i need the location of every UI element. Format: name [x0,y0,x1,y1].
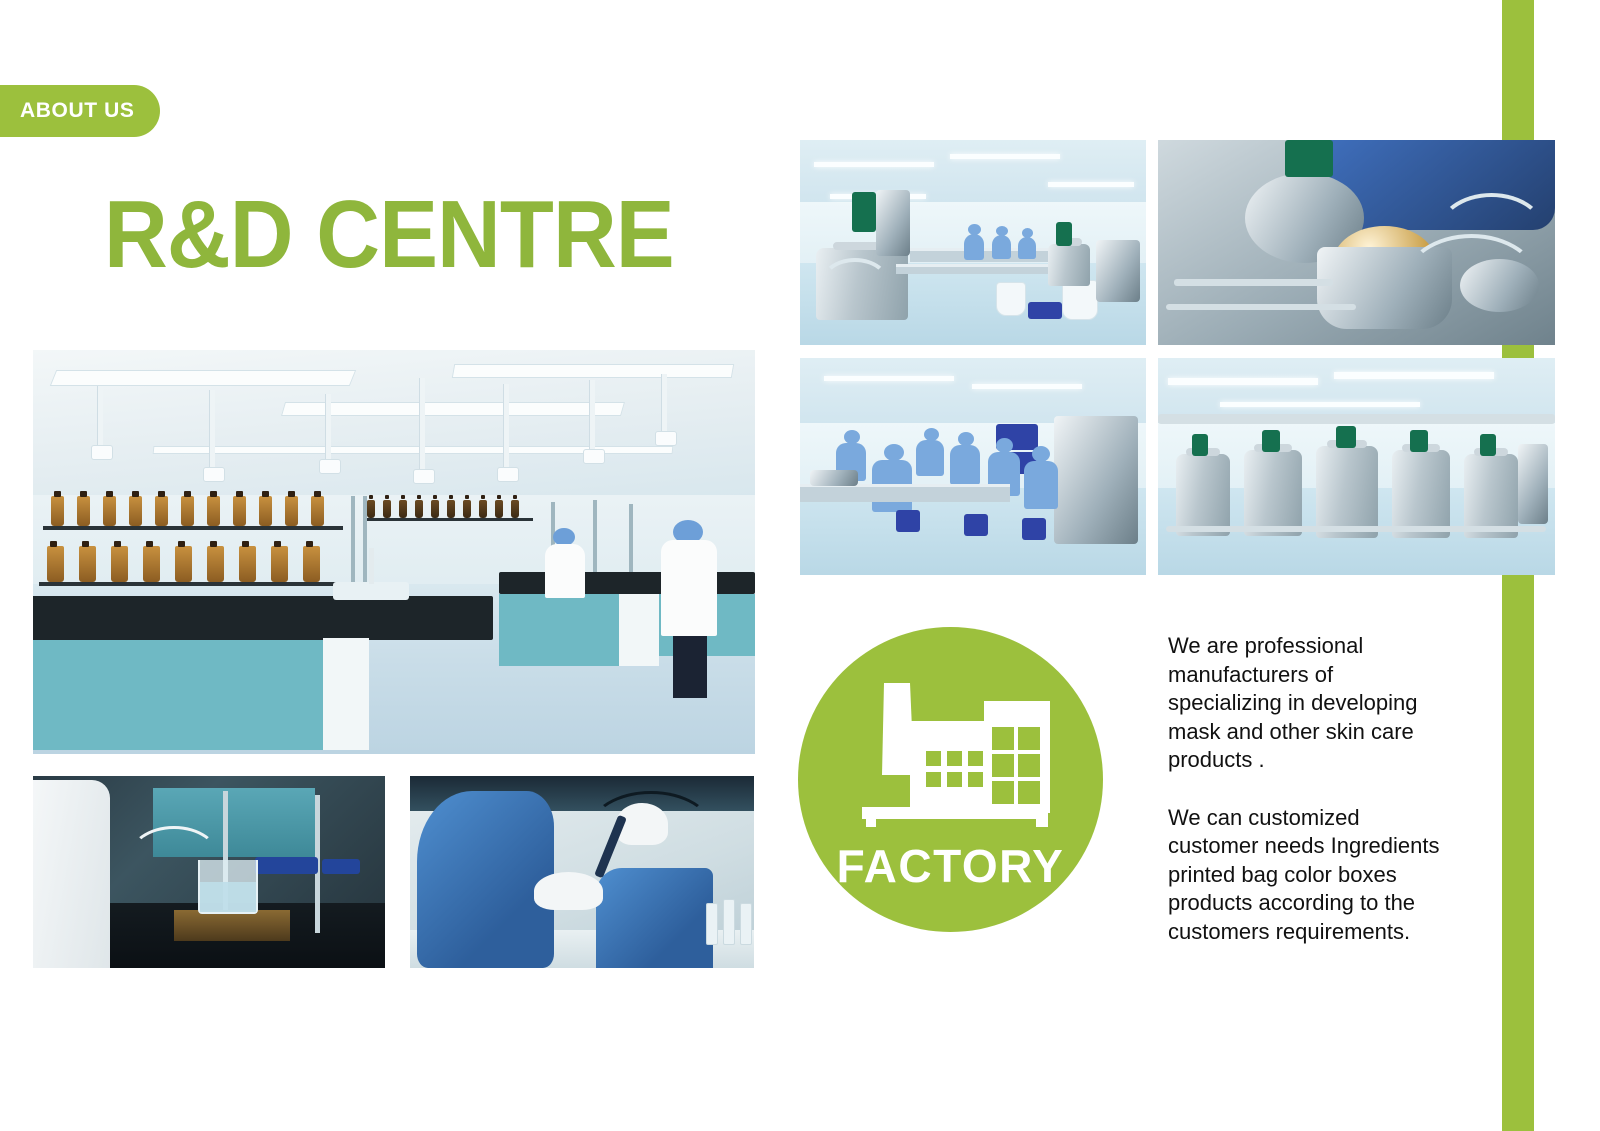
packing-table [800,484,1010,502]
ceiling-light [950,154,1060,159]
storage-tank [1176,454,1230,536]
equipment-frame [1096,240,1140,302]
technician-coat [545,544,585,598]
packing-team-scene [800,358,1146,575]
reagent-bottle [51,496,64,526]
blue-clamp [255,857,318,874]
packer-head [884,444,904,461]
ceiling-pendant [589,380,595,454]
reagent-bottle [47,546,64,582]
technician-legs [673,636,707,698]
operator-body [1018,237,1036,259]
operator-gown-right [596,868,713,968]
beaker-scene [33,776,385,968]
lab-bench-cabinet [33,640,323,750]
about-us-tab-label: ABOUT US [20,99,134,123]
ceiling-light [1048,182,1134,187]
technician-coat [661,540,717,636]
tank-agitator [1410,430,1428,452]
operator-body [992,235,1011,259]
mixer-motor [852,192,876,232]
factory-icon [838,675,1066,837]
wall-duct [1158,414,1555,424]
faucet [369,548,374,584]
reagent-bottle [77,496,90,526]
reagent-bottle [495,500,503,518]
production-line-scene [800,140,1146,345]
reagent-bottle [383,500,391,518]
shelf-rail [39,582,355,586]
tank-agitator [1336,426,1356,448]
beaker-liquid [200,882,256,912]
photo-vacuum-mixer [1158,140,1555,345]
valve-assembly [1460,259,1539,312]
operator-gown-left [417,791,555,968]
about-paragraph-2: We can customized customer needs Ingredi… [1168,804,1450,947]
reagent-bottle [431,500,439,518]
blue-stool [964,514,988,536]
reagent-bottle [207,496,220,526]
sample-vial [740,903,752,945]
ceiling-light [972,384,1082,389]
reagent-bottle [181,496,194,526]
packer-body [1024,461,1058,509]
reagent-bottle [463,500,471,518]
reagent-bottle [447,500,455,518]
photo-lab-main [33,350,755,754]
reagent-bottle [79,546,96,582]
ceiling-pendant [97,386,103,450]
operator-body [964,234,984,260]
ceiling-panel [452,364,734,378]
ceiling-pendant [661,374,667,436]
shelf-rail [43,526,343,530]
hotplate [174,910,290,941]
reagent-bottle [103,496,116,526]
ceiling-pendant [209,390,215,472]
pipetting-scene [410,776,754,968]
about-paragraph-1: We are professional manufacturers of spe… [1168,632,1450,775]
gloved-hand [534,872,603,910]
lab-bench-panel [619,594,659,666]
sample-vial [723,899,735,945]
reagent-bottle [175,546,192,582]
photo-beaker [33,776,385,968]
ceiling-panel [281,402,625,416]
factory-caption: FACTORY [798,839,1103,893]
control-panel [1518,444,1548,524]
reagent-bottle [303,546,320,582]
tank-agitator [1192,434,1208,456]
reagent-bottle [155,496,168,526]
reagent-bottle [367,500,375,518]
lab-sink [333,582,409,600]
ceiling-pendant [419,378,425,474]
process-pipe [1166,526,1546,532]
reagent-bottle [311,496,324,526]
reagent-bottle [415,500,423,518]
hose [820,258,890,310]
photo-storage-tanks [1158,358,1555,575]
ceiling-pendant [325,394,331,464]
reagent-bottle [259,496,272,526]
reagent-bottle [479,500,487,518]
lab-bench-panel [323,638,369,750]
packing-machine [1054,416,1138,544]
blue-stool [1022,518,1046,540]
tank-agitator [1262,430,1280,452]
reagent-bottle [239,546,256,582]
photo-pipetting [410,776,754,968]
packer-head [996,438,1013,453]
photo-packing-team [800,358,1146,575]
ceiling-pendant [503,384,509,472]
ceiling-light [1168,378,1318,385]
beaker-glass [198,860,258,914]
reagent-bottle [143,546,160,582]
packer-head [844,430,860,444]
pipe [1174,279,1333,286]
reagent-bottle [207,546,224,582]
conveyor [896,264,1056,274]
storage-tanks-scene [1158,358,1555,575]
packer-head [1032,446,1050,462]
reagent-bottle [271,546,288,582]
control-cabinet [876,190,910,256]
mixer-motor [1285,140,1333,177]
mixer-motor [1056,222,1072,246]
shelf-rail [363,518,533,521]
lab-bench-cabinet [499,594,619,666]
reagent-bottle [285,496,298,526]
blue-stool [896,510,920,532]
ceiling-panel [50,370,356,386]
tank-agitator [1480,434,1496,456]
white-bucket [1062,280,1098,320]
reagent-bottle [511,500,519,518]
storage-tank [1244,450,1302,536]
ceiling-light [824,376,954,381]
mixing-tank [1048,244,1090,286]
reagent-bottle [399,500,407,518]
ceiling-light [1334,372,1494,379]
reagent-bottle [111,546,128,582]
conveyor [910,248,1060,262]
storage-tank [1316,446,1378,538]
vacuum-mixer-scene [1158,140,1555,345]
factory-badge: FACTORY [798,627,1103,932]
blue-clamp [322,859,361,874]
ceiling-light [814,162,934,167]
reagent-bottle [233,496,246,526]
photo-production-line [800,140,1146,345]
sample-vial [706,903,718,945]
about-us-page: ABOUT US R&D CENTRE [0,0,1600,1131]
lab-main-scene [33,350,755,754]
ceiling-light [1220,402,1420,407]
white-bucket [996,282,1026,316]
page-title: R&D CENTRE [104,183,674,287]
pipe [1166,304,1357,310]
packer-body [950,445,980,485]
blue-crate [1028,302,1062,319]
about-copy: We are professional manufacturers of spe… [1168,632,1450,946]
about-us-tab[interactable]: ABOUT US [0,85,160,137]
storage-tank [1392,450,1450,538]
packer-head [958,432,974,446]
reagent-bottle [129,496,142,526]
technician-sleeve [33,780,110,968]
product-tray [810,470,858,486]
lab-bench-dark [33,596,493,640]
packer-body [916,440,944,476]
